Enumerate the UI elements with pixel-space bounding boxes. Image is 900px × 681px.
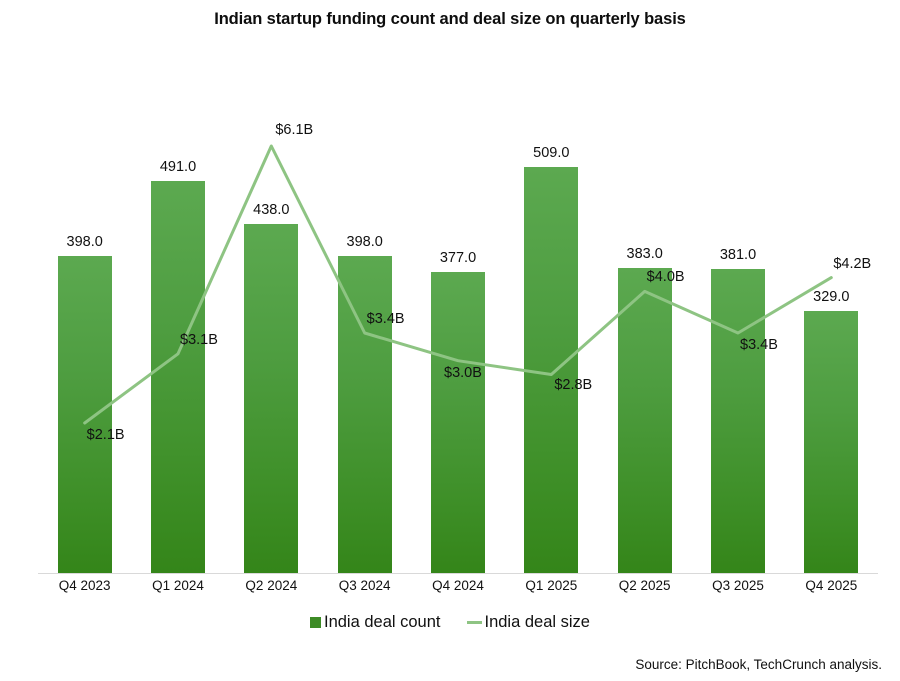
x-tick-q4-2025: Q4 2025: [805, 578, 857, 593]
line-value-label: $3.0B: [444, 365, 482, 381]
line-value-label: $3.4B: [740, 337, 778, 353]
deal-size-polyline: [85, 146, 832, 423]
x-tick-q4-2024: Q4 2024: [432, 578, 484, 593]
line-value-label: $3.4B: [367, 311, 405, 327]
legend-item-deal-count[interactable]: India deal count: [310, 613, 441, 632]
line-series-india-deal-size: [38, 60, 878, 574]
plot-area: 398.0491.0438.0398.0377.0509.0383.0381.0…: [38, 60, 878, 574]
line-value-label: $2.1B: [87, 427, 125, 443]
x-tick-q1-2025: Q1 2025: [525, 578, 577, 593]
chart-figure: Indian startup funding count and deal si…: [0, 0, 900, 681]
x-tick-q2-2024: Q2 2024: [245, 578, 297, 593]
page-title: Indian startup funding count and deal si…: [0, 10, 900, 29]
line-value-label: $4.0B: [647, 269, 685, 285]
x-axis-tick-labels: Q4 2023Q1 2024Q2 2024Q3 2024Q4 2024Q1 20…: [38, 578, 878, 602]
x-tick-q3-2025: Q3 2025: [712, 578, 764, 593]
line-value-label: $3.1B: [180, 332, 218, 348]
source-note: Source: PitchBook, TechCrunch analysis.: [635, 657, 882, 672]
x-tick-q2-2025: Q2 2025: [619, 578, 671, 593]
x-tick-q3-2024: Q3 2024: [339, 578, 391, 593]
chart-legend: India deal countIndia deal size: [0, 613, 900, 632]
line-value-label: $4.2B: [833, 256, 871, 272]
legend-square-icon: [310, 617, 321, 628]
legend-line-icon: [467, 621, 482, 624]
line-value-label: $2.8B: [554, 377, 592, 393]
x-tick-q1-2024: Q1 2024: [152, 578, 204, 593]
legend-item-label: India deal size: [485, 613, 591, 632]
x-tick-q4-2023: Q4 2023: [59, 578, 111, 593]
legend-item-deal-size[interactable]: India deal size: [467, 613, 591, 632]
line-value-label: $6.1B: [275, 122, 313, 138]
legend-item-label: India deal count: [324, 613, 441, 632]
